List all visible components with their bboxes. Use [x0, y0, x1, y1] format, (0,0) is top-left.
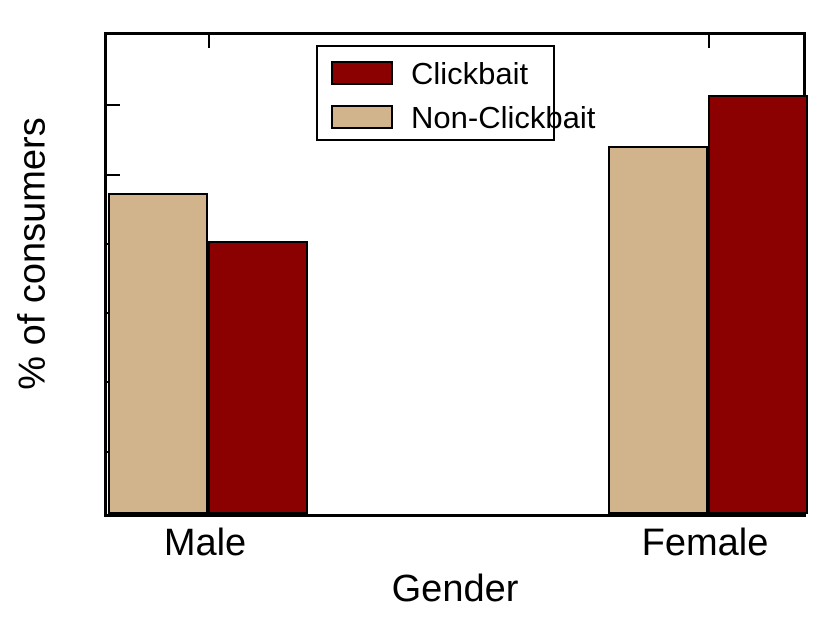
legend-swatch-icon [331, 105, 393, 129]
legend-item-clickbait: Clickbait [318, 51, 553, 95]
bar-female-clickbait [708, 95, 808, 514]
bar-chart-figure: % of consumers 010203040506070 MaleFemal… [0, 0, 822, 617]
x-axis-tick-label-male: Male [55, 522, 355, 565]
bar-male-clickbait [208, 241, 308, 514]
legend-item-non-clickbait: Non-Clickbait [318, 95, 553, 139]
bar-male-non-clickbait [108, 193, 208, 514]
y-axis-label: % of consumers [12, 34, 55, 474]
legend-label: Non-Clickbait [411, 102, 595, 133]
x-axis-tick-label-female: Female [555, 522, 822, 565]
legend-swatch-icon [331, 61, 393, 85]
bar-female-non-clickbait [608, 146, 708, 514]
chart-legend: ClickbaitNon-Clickbait [316, 45, 555, 141]
legend-label: Clickbait [411, 58, 528, 89]
x-axis-label: Gender [104, 568, 806, 611]
